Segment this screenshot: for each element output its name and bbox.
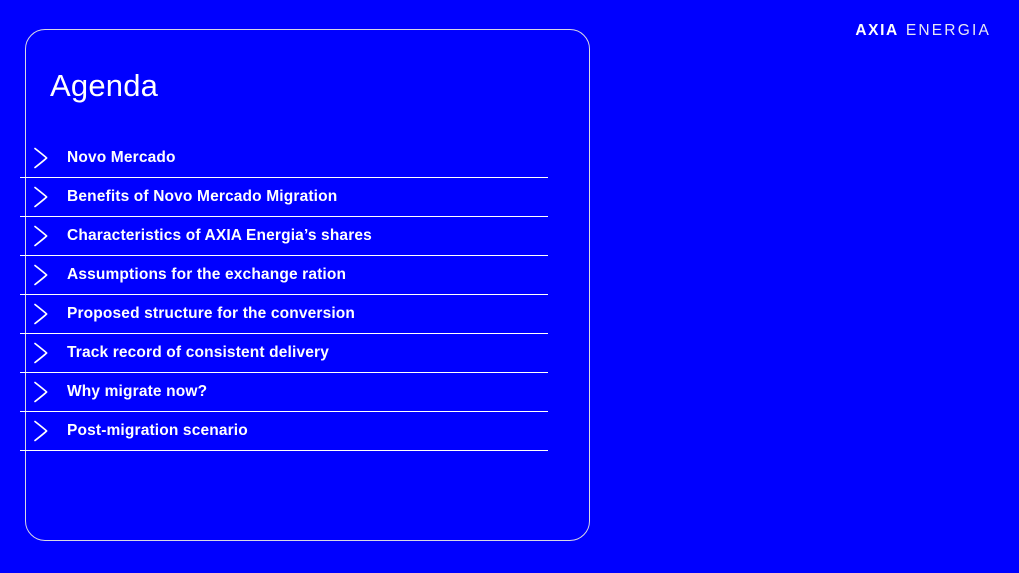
agenda-item-label: Novo Mercado: [67, 149, 176, 167]
chevron-right-icon: [28, 145, 54, 171]
agenda-item-label: Characteristics of AXIA Energia’s shares: [67, 227, 372, 245]
brand-logo: AXIA ENERGIA: [855, 23, 991, 39]
agenda-item-label: Track record of consistent delivery: [67, 344, 329, 362]
agenda-item-6[interactable]: Track record of consistent delivery: [20, 334, 548, 373]
slide-canvas: AXIA ENERGIA Agenda Novo Mercado Benefit…: [0, 0, 1019, 573]
agenda-item-5[interactable]: Proposed structure for the conversion: [20, 295, 548, 334]
agenda-item-label: Assumptions for the exchange ration: [67, 266, 346, 284]
agenda-item-label: Proposed structure for the conversion: [67, 305, 355, 323]
agenda-item-label: Post-migration scenario: [67, 422, 248, 440]
chevron-right-icon: [28, 301, 54, 327]
agenda-item-label: Benefits of Novo Mercado Migration: [67, 188, 337, 206]
brand-word: ENERGIA: [906, 23, 991, 39]
page-title: Agenda: [50, 70, 158, 101]
agenda-item-4[interactable]: Assumptions for the exchange ration: [20, 256, 548, 295]
agenda-item-3[interactable]: Characteristics of AXIA Energia’s shares: [20, 217, 548, 256]
chevron-right-icon: [28, 223, 54, 249]
brand-mark: AXIA: [855, 23, 898, 39]
agenda-item-label: Why migrate now?: [67, 383, 207, 401]
agenda-item-7[interactable]: Why migrate now?: [20, 373, 548, 412]
agenda-item-1[interactable]: Novo Mercado: [20, 139, 548, 178]
agenda-item-8[interactable]: Post-migration scenario: [20, 412, 548, 451]
agenda-item-2[interactable]: Benefits of Novo Mercado Migration: [20, 178, 548, 217]
chevron-right-icon: [28, 340, 54, 366]
chevron-right-icon: [28, 262, 54, 288]
chevron-right-icon: [28, 418, 54, 444]
agenda-list: Novo Mercado Benefits of Novo Mercado Mi…: [20, 139, 548, 451]
chevron-right-icon: [28, 379, 54, 405]
chevron-right-icon: [28, 184, 54, 210]
